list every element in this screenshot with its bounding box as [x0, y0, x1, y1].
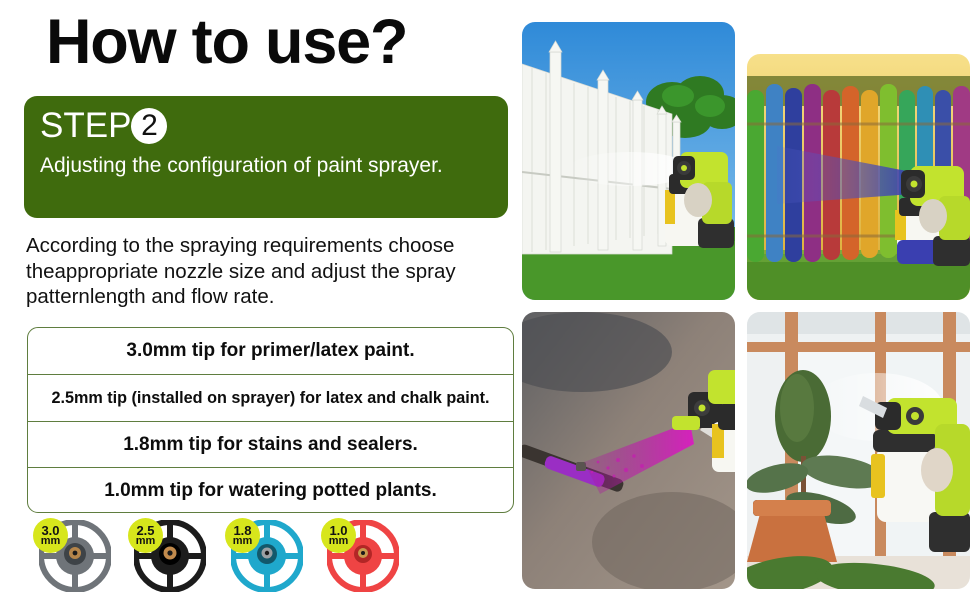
table-row: 2.5mm tip (installed on sprayer) for lat… [28, 375, 513, 422]
photo-illustration [522, 22, 735, 300]
nozzle-size-unit: mm [41, 536, 61, 547]
nozzle-size-unit: mm [329, 536, 349, 547]
nozzle-size-unit: mm [233, 536, 253, 547]
photo-illustration [747, 312, 970, 589]
nozzle-size-value: 1.0 [329, 525, 347, 536]
nozzle-3-0mm: 3.0 mm [33, 520, 115, 598]
nozzle-1-0mm: 1.0 mm [321, 520, 403, 598]
nozzle-icon-row: 3.0 mm 2.5 mm [33, 512, 433, 597]
photo-rainbow-fence-spraying [747, 54, 970, 300]
table-row: 1.8mm tip for stains and sealers. [28, 422, 513, 468]
photo-magenta-spray-on-pole [522, 312, 735, 589]
step-heading-row: STEP 2 [40, 103, 508, 147]
table-row: 3.0mm tip for primer/latex paint. [28, 328, 513, 375]
nozzle-size-badge: 1.0 mm [321, 518, 356, 553]
step-subtitle: Adjusting the configuration of paint spr… [40, 153, 490, 179]
infographic-page: How to use? STEP 2 Adjusting the configu… [0, 0, 970, 600]
nozzle-size-badge: 2.5 mm [128, 518, 163, 553]
nozzle-1-8mm: 1.8 mm [225, 520, 307, 598]
nozzle-size-value: 1.8 [233, 525, 251, 536]
page-title: How to use? [46, 6, 506, 78]
step-number-badge: 2 [131, 108, 167, 144]
nozzle-spec-table: 3.0mm tip for primer/latex paint. 2.5mm … [27, 327, 514, 513]
nozzle-size-badge: 3.0 mm [33, 518, 68, 553]
left-content-column: How to use? STEP 2 Adjusting the configu… [0, 0, 520, 600]
step-banner: STEP 2 Adjusting the configuration of pa… [24, 96, 508, 218]
photo-illustration [522, 312, 735, 589]
nozzle-size-badge: 1.8 mm [225, 518, 260, 553]
intro-paragraph: According to the spraying requirements c… [26, 233, 516, 310]
nozzle-size-unit: mm [136, 536, 156, 547]
table-row: 1.0mm tip for watering potted plants. [28, 468, 513, 513]
nozzle-size-value: 3.0 [41, 525, 59, 536]
step-label: STEP [40, 108, 131, 143]
photo-illustration [747, 54, 970, 300]
photo-watering-potted-plant [747, 312, 970, 589]
nozzle-size-value: 2.5 [136, 525, 154, 536]
nozzle-2-5mm: 2.5 mm [128, 520, 210, 598]
photo-white-fence-spraying [522, 22, 735, 300]
